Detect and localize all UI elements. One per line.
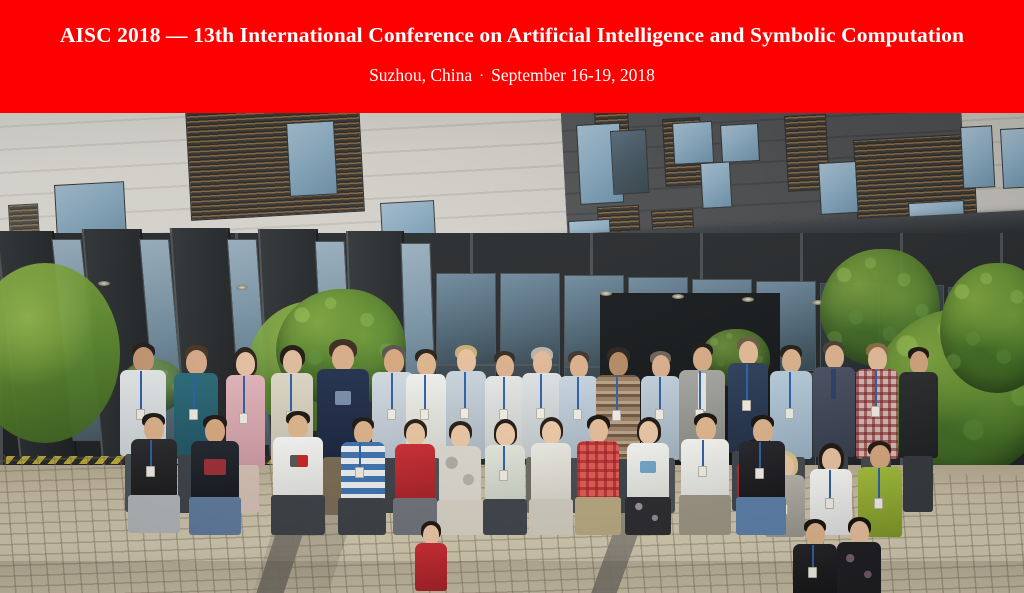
torso bbox=[577, 441, 619, 499]
name-badge bbox=[460, 408, 469, 419]
shirt-logo bbox=[290, 455, 308, 467]
lanyard bbox=[616, 376, 618, 412]
legs bbox=[483, 499, 527, 535]
name-badge bbox=[871, 406, 880, 417]
conference-location: Suzhou, China bbox=[369, 65, 472, 85]
head bbox=[850, 521, 869, 544]
head bbox=[205, 419, 225, 443]
lanyard bbox=[193, 374, 195, 412]
lanyard bbox=[659, 377, 661, 411]
window-pane bbox=[286, 120, 338, 196]
legs bbox=[575, 497, 621, 535]
name-badge bbox=[499, 470, 508, 481]
head bbox=[457, 349, 476, 373]
window-pane bbox=[720, 123, 760, 163]
head bbox=[496, 355, 514, 378]
head bbox=[496, 423, 515, 446]
head bbox=[609, 352, 628, 376]
head bbox=[693, 347, 712, 371]
name-badge bbox=[146, 466, 155, 477]
person-front-row bbox=[270, 411, 326, 535]
name-badge bbox=[874, 498, 883, 509]
group-photo bbox=[0, 113, 1024, 593]
torso bbox=[415, 543, 447, 591]
head bbox=[332, 345, 354, 371]
window-pane bbox=[1000, 127, 1024, 188]
head bbox=[822, 448, 841, 471]
lanyard bbox=[789, 372, 791, 410]
head bbox=[739, 341, 758, 365]
person-front-row bbox=[736, 415, 788, 535]
torso bbox=[837, 542, 881, 593]
lanyard bbox=[829, 470, 831, 500]
canopy-downlight bbox=[600, 291, 612, 296]
conference-dates: September 16-19, 2018 bbox=[491, 65, 655, 85]
person-front-row bbox=[338, 417, 388, 535]
canopy-downlight bbox=[236, 285, 248, 290]
person-front-row bbox=[574, 415, 622, 535]
head bbox=[910, 351, 928, 374]
torso bbox=[273, 437, 323, 497]
lanyard bbox=[812, 545, 814, 569]
person-front-row bbox=[188, 415, 242, 535]
conference-title: AISC 2018 — 13th International Conferenc… bbox=[0, 22, 1024, 48]
conference-header-banner: AISC 2018 — 13th International Conferenc… bbox=[0, 0, 1024, 113]
name-badge bbox=[755, 468, 764, 479]
lanyard bbox=[702, 440, 704, 468]
person-front-row bbox=[624, 417, 672, 535]
window-pane bbox=[610, 129, 649, 195]
head bbox=[417, 353, 436, 376]
name-badge bbox=[355, 467, 364, 478]
legs bbox=[679, 495, 731, 535]
lanyard bbox=[875, 370, 877, 408]
lanyard bbox=[699, 371, 701, 411]
conference-subtitle: Suzhou, China·September 16-19, 2018 bbox=[0, 64, 1024, 88]
head bbox=[696, 417, 716, 441]
person-front-row bbox=[790, 519, 840, 593]
person-front-row bbox=[482, 419, 528, 535]
lanyard bbox=[290, 374, 292, 414]
legs bbox=[625, 497, 671, 535]
torso bbox=[531, 443, 571, 501]
head bbox=[354, 421, 373, 444]
torso bbox=[395, 444, 435, 500]
window-pane bbox=[960, 125, 995, 189]
head bbox=[236, 352, 255, 376]
lanyard bbox=[577, 377, 579, 411]
head bbox=[806, 523, 825, 546]
lanyard bbox=[759, 442, 761, 470]
legs bbox=[338, 498, 386, 535]
person-front-row bbox=[414, 521, 448, 593]
legs bbox=[529, 499, 573, 535]
head bbox=[144, 417, 164, 441]
person-front-row bbox=[436, 421, 484, 535]
legs bbox=[271, 495, 325, 535]
lanyard bbox=[503, 377, 505, 411]
subtitle-separator: · bbox=[472, 68, 491, 84]
person-front-row bbox=[128, 413, 180, 533]
torso bbox=[899, 372, 938, 458]
necktie bbox=[831, 369, 836, 399]
head bbox=[589, 419, 608, 442]
head bbox=[533, 351, 552, 375]
person-front-row bbox=[834, 517, 884, 593]
lanyard bbox=[878, 468, 880, 500]
person-back-row bbox=[898, 347, 940, 513]
person-front-row bbox=[678, 413, 732, 535]
head bbox=[423, 525, 439, 545]
head bbox=[384, 349, 404, 374]
lanyard bbox=[540, 374, 542, 410]
torso bbox=[439, 446, 481, 502]
lanyard bbox=[424, 375, 426, 411]
head bbox=[288, 415, 308, 439]
lanyard bbox=[243, 376, 245, 416]
lanyard bbox=[391, 373, 393, 411]
lanyard bbox=[140, 371, 142, 411]
head bbox=[186, 350, 207, 375]
canopy-downlight bbox=[672, 294, 684, 299]
shirt-graphic bbox=[335, 391, 351, 405]
head bbox=[868, 347, 887, 371]
canopy-downlight bbox=[98, 281, 110, 286]
legs bbox=[128, 495, 180, 533]
shirt-graphic bbox=[204, 459, 226, 475]
louvre-window bbox=[185, 113, 365, 221]
head bbox=[639, 421, 658, 444]
person-front-row bbox=[528, 417, 574, 535]
lanyard bbox=[503, 446, 505, 472]
shirt-graphic bbox=[640, 461, 656, 473]
name-badge bbox=[808, 567, 817, 578]
head bbox=[451, 425, 470, 448]
head bbox=[870, 445, 890, 469]
head bbox=[133, 347, 154, 372]
lanyard bbox=[150, 440, 152, 468]
head bbox=[570, 355, 588, 378]
name-badge bbox=[742, 400, 751, 411]
canopy-downlight bbox=[742, 297, 754, 302]
head bbox=[406, 423, 425, 446]
head bbox=[825, 345, 844, 369]
head bbox=[283, 350, 302, 374]
person-front-row bbox=[392, 419, 438, 535]
lanyard bbox=[746, 364, 748, 402]
window-pane bbox=[700, 161, 732, 209]
head bbox=[782, 349, 801, 373]
lanyard bbox=[464, 372, 466, 410]
window-pane bbox=[672, 121, 714, 165]
name-badge bbox=[698, 466, 707, 477]
head bbox=[753, 419, 773, 443]
legs bbox=[903, 456, 933, 512]
head bbox=[542, 421, 561, 444]
head bbox=[652, 355, 670, 378]
conference-banner-page: AISC 2018 — 13th International Conferenc… bbox=[0, 0, 1024, 593]
legs bbox=[189, 497, 241, 535]
name-badge bbox=[825, 498, 834, 509]
window-pane bbox=[818, 161, 859, 215]
legs bbox=[736, 497, 786, 535]
lanyard bbox=[359, 443, 361, 469]
